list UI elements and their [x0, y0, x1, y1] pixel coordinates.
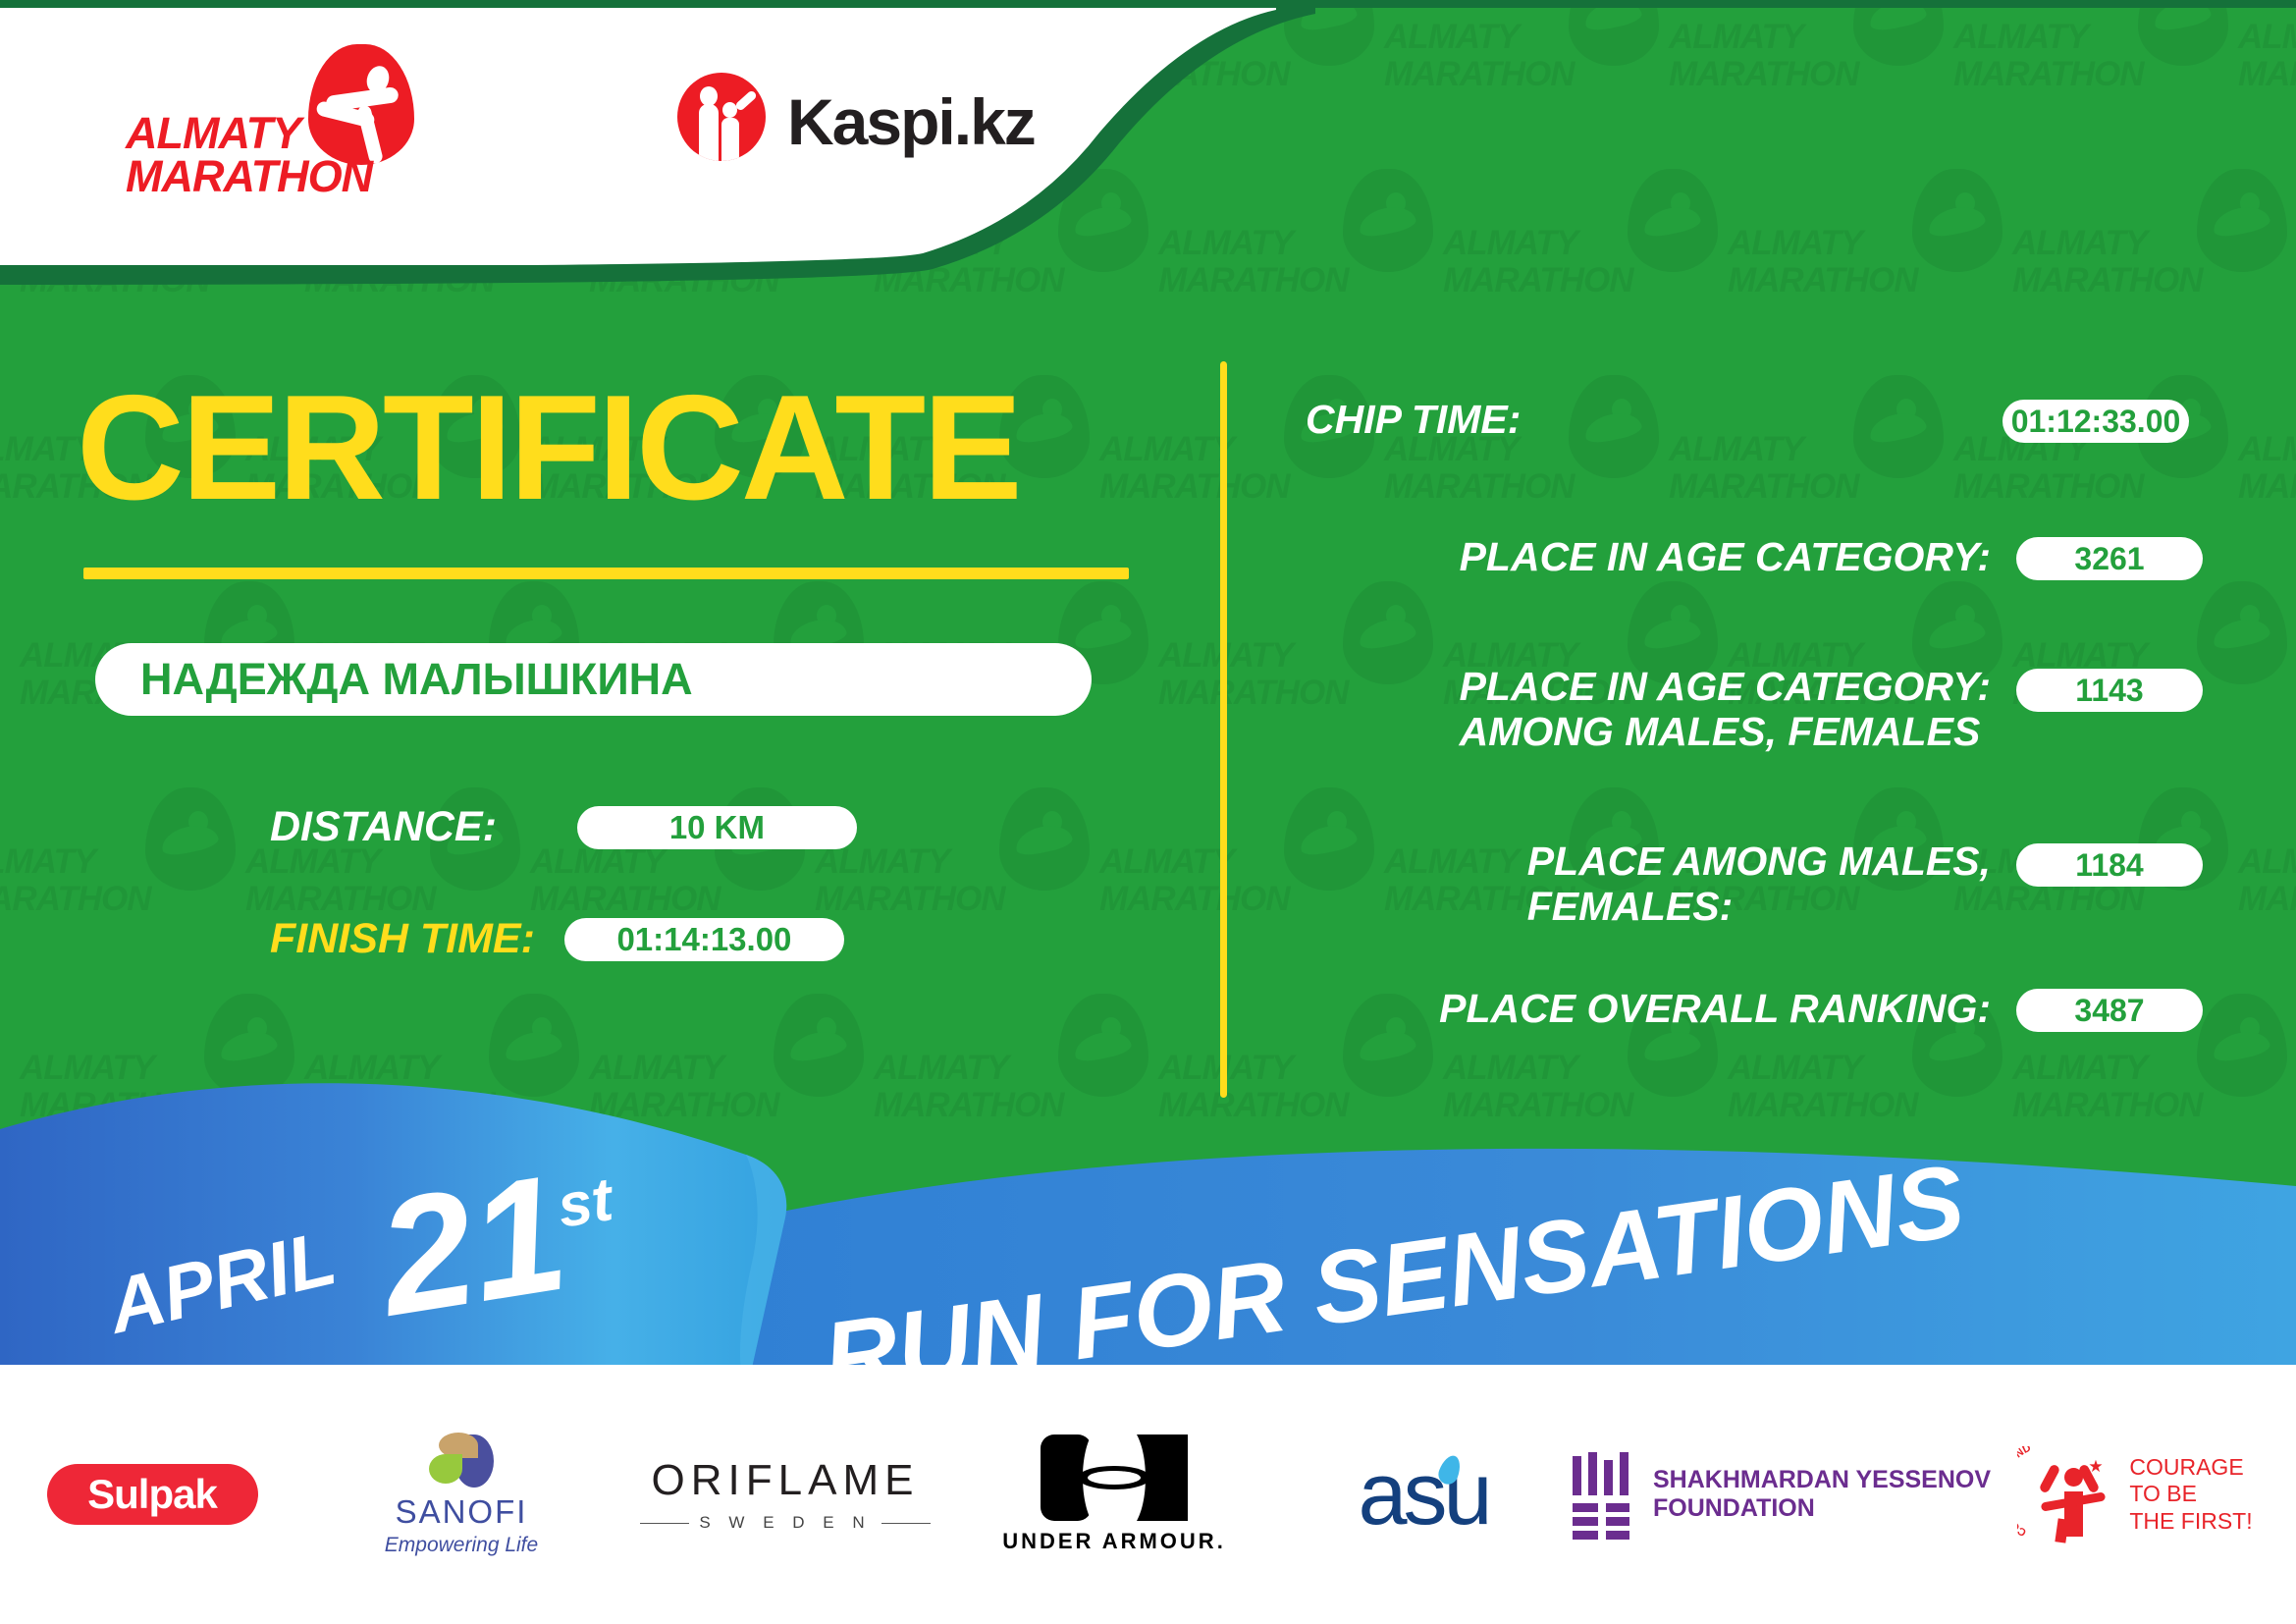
watermark-runner-icon: [2197, 581, 2287, 684]
chip-time-value: 01:12:33.00: [2002, 400, 2189, 443]
place-age-category-among-label: PLACE IN AGE CATEGORY: AMONG MALES, FEMA…: [1460, 665, 1991, 755]
kaspi-child-arm-icon: [734, 89, 758, 112]
watermark-line1: ALMATY: [1669, 18, 1803, 57]
yessenov-line2: FOUNDATION: [1653, 1494, 1815, 1522]
sponsor-sanofi: SANOFI Empowering Life: [304, 1416, 618, 1573]
watermark-line1: ALMATY: [1384, 842, 1519, 882]
oriflame-sweden: S W E D E N: [699, 1513, 871, 1533]
watermark-tile: ALMATYMARATHON: [2238, 373, 2296, 579]
almaty-logo-line2: MARATHON: [126, 154, 372, 198]
watermark-tile: ALMATYMARATHON: [1099, 785, 1384, 992]
watermark-line2: MARATHON: [1099, 467, 1290, 507]
watermark-runner-icon: [1343, 169, 1433, 272]
courage-mark-icon: CORPORATE FUND ★: [2017, 1446, 2115, 1543]
yessenov-line1: SHAKHMARDAN YESSENOV: [1653, 1466, 1991, 1493]
watermark-runner-icon: [1569, 0, 1659, 66]
watermark-tile: ALMATYMARATHON: [0, 785, 245, 992]
place-age-category-among-row: PLACE IN AGE CATEGORY: AMONG MALES, FEMA…: [1460, 665, 2203, 755]
courage-line2: TO BE: [2129, 1481, 2197, 1506]
participant-name: НАДЕЖДА МАЛЫШКИНА: [140, 654, 693, 705]
oriflame-wordmark: ORIFLAME: [652, 1456, 920, 1505]
watermark-runner-icon: [1912, 169, 2002, 272]
oriflame-logo: ORIFLAME S W E D E N: [640, 1456, 930, 1533]
runner-drop-icon: [308, 44, 414, 165]
watermark-tile: ALMATYMARATHON: [2012, 167, 2296, 373]
asu-wordmark: asu: [1358, 1457, 1488, 1533]
watermark-line1: ALMATY: [2238, 18, 2296, 57]
sponsor-asu: asu: [1276, 1416, 1571, 1573]
watermark-line1: ALMATY: [0, 842, 95, 882]
sponsor-courage-fund: CORPORATE FUND ★ COURAGE TO BE THE FIRST…: [1993, 1416, 2277, 1573]
watermark-line2: MARATHON: [1384, 55, 1575, 94]
watermark-line1: ALMATY: [2012, 224, 2147, 263]
under-armour-wordmark: UNDER ARMOUR.: [1002, 1529, 1226, 1554]
finish-time-value: 01:14:13.00: [564, 918, 844, 961]
watermark-runner-icon: [1628, 169, 1718, 272]
watermark-line2: MARATHON: [2238, 880, 2296, 919]
watermark-tile: ALMATYMARATHON: [1728, 167, 2012, 373]
place-age-category-value: 3261: [2016, 537, 2203, 580]
watermark-line1: ALMATY: [1099, 842, 1234, 882]
participant-name-field: НАДЕЖДА МАЛЫШКИНА: [95, 643, 1092, 716]
page-title: CERTIFICATE: [77, 373, 1020, 522]
watermark-runner-icon: [1853, 0, 1944, 66]
place-overall-ranking-label: PLACE OVERALL RANKING:: [1439, 987, 1991, 1032]
top-green-bar: [0, 0, 2296, 8]
chip-time-row: CHIP TIME: 01:12:33.00: [1306, 398, 2189, 443]
sanofi-logo: SANOFI Empowering Life: [385, 1433, 538, 1557]
watermark-runner-icon: [1284, 787, 1374, 891]
place-among-males-females-label: PLACE AMONG MALES, FEMALES:: [1527, 839, 1991, 930]
watermark-line1: ALMATY: [1099, 430, 1234, 469]
sponsor-under-armour: UNDER ARMOUR.: [952, 1416, 1276, 1573]
watermark-runner-icon: [1343, 581, 1433, 684]
kaspi-wordmark: Kaspi.kz: [787, 84, 1035, 159]
watermark-line2: MARATHON: [1384, 467, 1575, 507]
kaspi-child-body-icon: [721, 118, 739, 161]
watermark-tile: ALMATYMARATHON: [1158, 167, 1443, 373]
watermark-line2: MARATHON: [1669, 467, 1859, 507]
watermark-tile: ALMATYMARATHON: [815, 785, 1099, 992]
sulpak-logo: Sulpak: [47, 1464, 258, 1525]
watermark-line1: ALMATY: [1443, 224, 1577, 263]
sponsor-yessenov-foundation: SHAKHMARDAN YESSENOV FOUNDATION: [1571, 1416, 1993, 1573]
label-line-2: FEMALES:: [1527, 884, 1734, 929]
courage-logo: CORPORATE FUND ★ COURAGE TO BE THE FIRST…: [2017, 1446, 2252, 1543]
place-among-males-females-row: PLACE AMONG MALES, FEMALES: 1184: [1527, 839, 2203, 930]
watermark-line2: MARATHON: [1158, 674, 1349, 713]
watermark-line2: MARATHON: [1669, 55, 1859, 94]
kaspi-adult-body-icon: [699, 104, 719, 161]
yessenov-mark-icon: [1573, 1452, 1633, 1537]
almaty-marathon-logo: ALMATY MARATHON: [126, 44, 440, 182]
place-overall-ranking-row: PLACE OVERALL RANKING: 3487: [1439, 987, 2203, 1032]
watermark-tile: ALMATYMARATHON: [1384, 0, 1669, 167]
watermark-line2: MARATHON: [1099, 880, 1290, 919]
sponsor-strip: Sulpak SANOFI Empowering Life ORIFLAME S…: [0, 1365, 2296, 1624]
watermark-line1: ALMATY: [1384, 18, 1519, 57]
sanofi-wordmark: SANOFI: [396, 1493, 528, 1531]
watermark-runner-icon: [2138, 0, 2228, 66]
label-line-2: AMONG MALES, FEMALES: [1460, 709, 1981, 754]
watermark-line2: MARATHON: [1158, 261, 1349, 300]
watermark-tile: ALMATYMARATHON: [1953, 0, 2238, 167]
label-line-1: PLACE IN AGE CATEGORY:: [1460, 664, 1991, 709]
place-age-category-row: PLACE IN AGE CATEGORY: 3261: [1460, 535, 2203, 580]
place-overall-ranking-value: 3487: [2016, 989, 2203, 1032]
watermark-line1: ALMATY: [1728, 224, 1862, 263]
courage-line3: THE FIRST!: [2129, 1508, 2252, 1534]
watermark-line2: MARATHON: [0, 880, 151, 919]
finish-time-label: FINISH TIME:: [270, 915, 535, 963]
distance-label: DISTANCE:: [270, 803, 497, 851]
oriflame-sub: S W E D E N: [640, 1513, 930, 1533]
distance-value: 10 KM: [577, 806, 857, 849]
courage-wordmark: COURAGE TO BE THE FIRST!: [2129, 1454, 2252, 1536]
under-armour-mark-icon: [1041, 1435, 1188, 1521]
watermark-line2: MARATHON: [2238, 55, 2296, 94]
divider-left: [640, 1523, 689, 1524]
under-armour-logo: UNDER ARMOUR.: [1002, 1435, 1226, 1554]
sanofi-tagline: Empowering Life: [385, 1534, 538, 1557]
svg-text:CORPORATE FUND: CORPORATE FUND: [2017, 1446, 2033, 1539]
watermark-tile: ALMATYMARATHON: [2238, 785, 2296, 992]
label-line-1: PLACE AMONG MALES,: [1527, 839, 1991, 884]
watermark-tile: ALMATYMARATHON: [1669, 0, 1953, 167]
watermark-line2: MARATHON: [2012, 261, 2203, 300]
watermark-line2: MARATHON: [245, 880, 436, 919]
watermark-line1: ALMATY: [1953, 18, 2088, 57]
watermark-line1: ALMATY: [2238, 430, 2296, 469]
watermark-line1: ALMATY: [1158, 224, 1293, 263]
kaspi-people-circle-icon: [677, 73, 766, 161]
certificate-page: ALMATYMARATHONALMATYMARATHONALMATYMARATH…: [0, 0, 2296, 1624]
sanofi-mark-icon: [423, 1433, 500, 1489]
ribbon-date-day: 21: [364, 1140, 577, 1351]
watermark-tile: ALMATYMARATHON: [1443, 167, 1728, 373]
asu-logo: asu: [1358, 1457, 1488, 1533]
yessenov-wordmark: SHAKHMARDAN YESSENOV FOUNDATION: [1653, 1466, 1991, 1524]
watermark-line2: MARATHON: [530, 880, 721, 919]
watermark-line1: ALMATY: [2238, 842, 2296, 882]
watermark-runner-icon: [145, 787, 236, 891]
watermark-runner-icon: [2197, 169, 2287, 272]
watermark-tile: ALMATYMARATHON: [2238, 0, 2296, 167]
watermark-line2: MARATHON: [1728, 261, 1918, 300]
place-age-category-among-value: 1143: [2016, 669, 2203, 712]
watermark-line2: MARATHON: [1953, 467, 2144, 507]
yessenov-logo: SHAKHMARDAN YESSENOV FOUNDATION: [1573, 1452, 1991, 1537]
distance-row: DISTANCE: 10 KM: [270, 803, 857, 851]
sponsor-oriflame: ORIFLAME S W E D E N: [618, 1416, 952, 1573]
watermark-line2: MARATHON: [2238, 467, 2296, 507]
title-underline: [83, 568, 1129, 579]
watermark-line2: MARATHON: [1953, 55, 2144, 94]
almaty-logo-line1: ALMATY: [126, 111, 300, 155]
watermark-line2: MARATHON: [1443, 261, 1633, 300]
divider-right: [881, 1523, 931, 1524]
sponsor-sulpak: Sulpak: [0, 1416, 304, 1573]
kaspi-adult-head-icon: [700, 86, 718, 106]
finish-time-row: FINISH TIME: 01:14:13.00: [270, 915, 844, 963]
place-age-category-label: PLACE IN AGE CATEGORY:: [1460, 535, 1991, 580]
watermark-line2: MARATHON: [815, 880, 1005, 919]
courage-line1: COURAGE: [2129, 1454, 2243, 1480]
watermark-runner-icon: [999, 787, 1090, 891]
place-among-males-females-value: 1184: [2016, 843, 2203, 887]
chip-time-label: CHIP TIME:: [1306, 398, 1977, 443]
results-divider: [1220, 361, 1227, 1098]
watermark-tile: ALMATYMARATHON: [1158, 579, 1443, 785]
